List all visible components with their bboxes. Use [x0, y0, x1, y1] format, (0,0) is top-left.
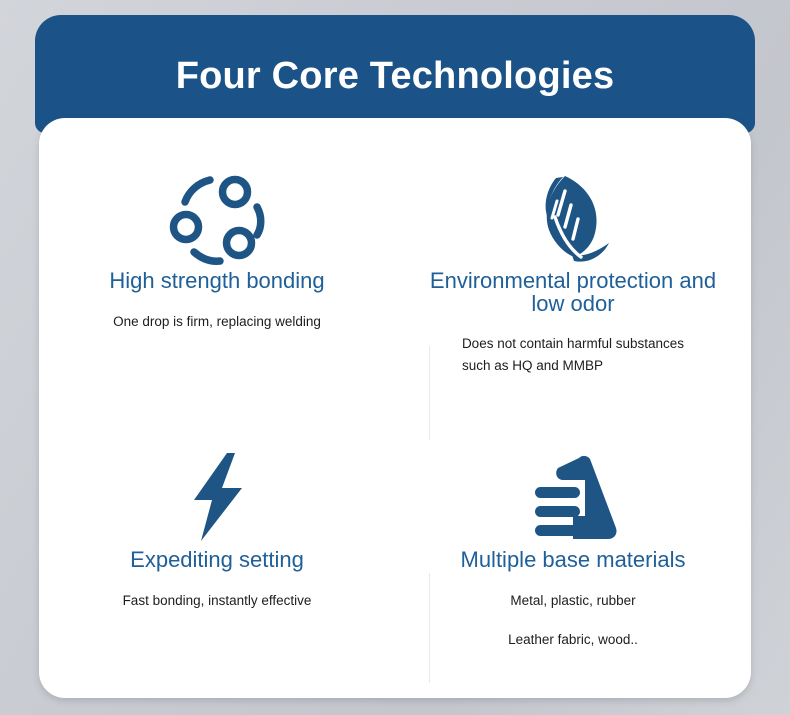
page-title: Four Core Technologies	[35, 57, 755, 95]
layered-materials-icon	[523, 449, 623, 545]
column-divider-bottom	[429, 573, 430, 683]
feature-title: Multiple base materials	[461, 549, 686, 572]
feature-description-line: Fast bonding, instantly effective	[123, 590, 312, 612]
feature-description: Metal, plastic, rubber Leather fabric, w…	[508, 590, 638, 651]
feature-panel: High strength bonding One drop is firm, …	[39, 118, 751, 698]
lightning-bolt-icon	[169, 449, 265, 545]
feature-title: Expediting setting	[130, 549, 304, 572]
feature-item-high-strength-bonding[interactable]: High strength bonding One drop is firm, …	[39, 140, 395, 419]
feature-title: High strength bonding	[109, 270, 324, 293]
feature-card-stack: Four Core Technologies	[35, 15, 755, 698]
feature-title: Environmental protection and low odor	[413, 270, 733, 315]
feature-description-line: One drop is firm, replacing welding	[113, 311, 321, 333]
feature-item-environmental-protection[interactable]: Environmental protection and low odor Do…	[395, 140, 751, 419]
feature-description: Fast bonding, instantly effective	[123, 590, 312, 612]
feature-grid: High strength bonding One drop is firm, …	[39, 140, 751, 698]
molecular-bond-icon	[169, 170, 265, 266]
feature-item-expediting-setting[interactable]: Expediting setting Fast bonding, instant…	[39, 419, 395, 698]
feature-description: One drop is firm, replacing welding	[113, 311, 321, 333]
card-header: Four Core Technologies	[35, 15, 755, 133]
feature-description-line: such as HQ and MMBP	[462, 355, 684, 377]
feature-description-line: Does not contain harmful substances	[462, 333, 684, 355]
feature-item-multiple-base-materials[interactable]: Multiple base materials Metal, plastic, …	[395, 419, 751, 698]
feature-description-line: Metal, plastic, rubber	[508, 590, 638, 612]
column-divider-top	[429, 346, 430, 440]
feature-description: Does not contain harmful substances such…	[462, 333, 684, 377]
leaf-icon	[525, 170, 621, 266]
feature-description-line: Leather fabric, wood..	[508, 629, 638, 651]
